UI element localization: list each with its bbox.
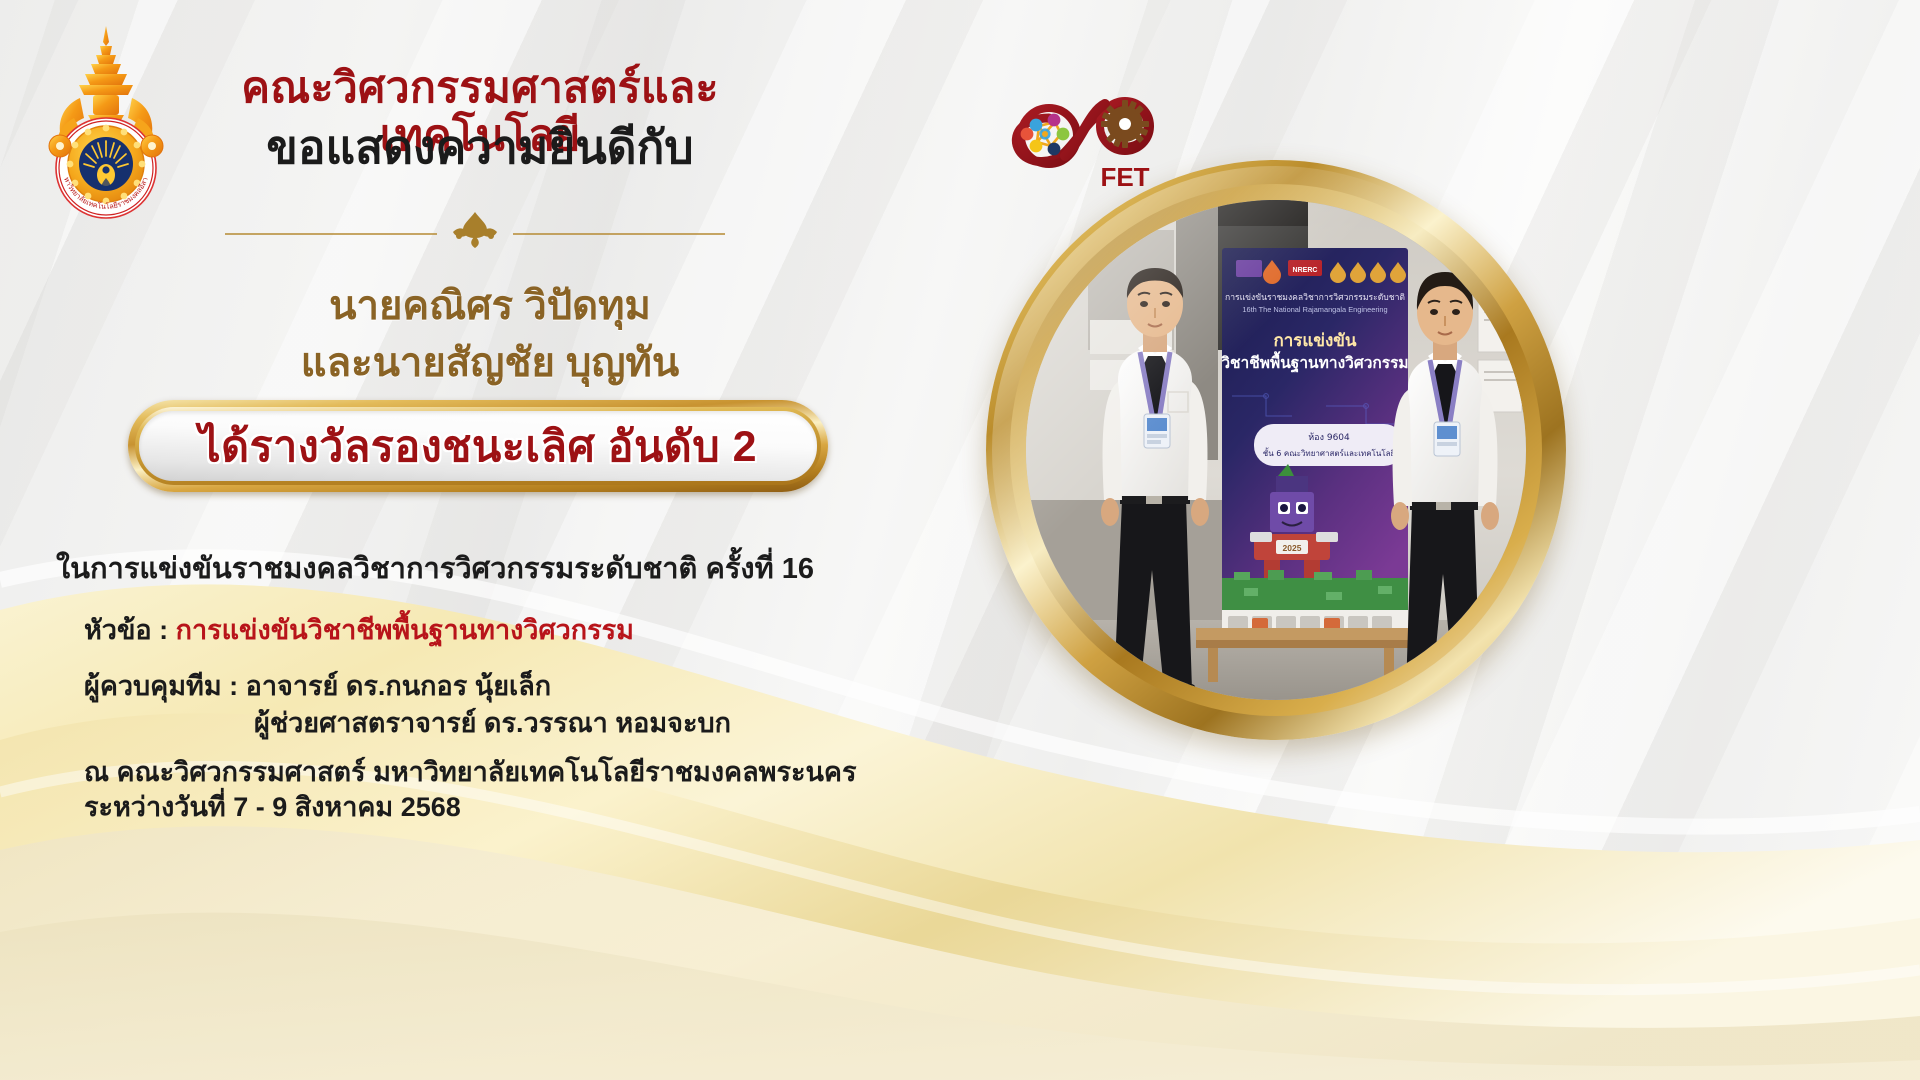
photo-clip: NRERC การแข่งขันราชมงคลวิชาการวิศวกรรมระ… bbox=[1026, 200, 1526, 700]
event-photo: NRERC การแข่งขันราชมงคลวิชาการวิศวกรรมระ… bbox=[1026, 200, 1526, 700]
congratulations-title: ขอแสดงความยินดีกับ bbox=[150, 122, 810, 174]
recipient-name-2: และนายสัญชัย บุญทัน bbox=[120, 335, 860, 392]
fet-logo-label: FET bbox=[1100, 162, 1149, 192]
photo-frame: NRERC การแข่งขันราชมงคลวิชาการวิศวกรรมระ… bbox=[986, 160, 1566, 740]
award-badge: ได้รางวัลรองชนะเลิศ อันดับ 2 bbox=[128, 400, 828, 492]
award-badge-face: ได้รางวัลรองชนะเลิศ อันดับ 2 bbox=[139, 411, 817, 481]
fet-logo: FET bbox=[1005, 82, 1180, 194]
gear-icon bbox=[1101, 100, 1149, 148]
topic-label: หัวข้อ : bbox=[84, 615, 176, 645]
recipient-name-1: นายคณิศร วิปัดทุม bbox=[120, 278, 860, 335]
ornament-divider bbox=[215, 206, 735, 254]
advisor-name-1: อาจารย์ ดร.กนกอร นุ้ยเล็ก bbox=[246, 671, 552, 701]
recipient-names: นายคณิศร วิปัดทุม และนายสัญชัย บุญทัน bbox=[120, 278, 860, 392]
advisor-line-2: ผู้ช่วยศาสตราจารย์ ดร.วรรณา หอมจะบก bbox=[254, 701, 731, 744]
date-line: ระหว่างวันที่ 7 - 9 สิงหาคม 2568 bbox=[84, 785, 461, 828]
event-line: ในการแข่งขันราชมงคลวิชาการวิศวกรรมระดับช… bbox=[56, 545, 814, 591]
award-text: ได้รางวัลรองชนะเลิศ อันดับ 2 bbox=[199, 412, 757, 480]
topic-line: หัวข้อ : การแข่งขันวิชาชีพพื้นฐานทางวิศว… bbox=[84, 608, 634, 651]
banner-canvas: มหาวิทยาลัยเทคโนโลยีราชมงคลอีสาน คณะวิศว… bbox=[0, 0, 1920, 1080]
advisor-label: ผู้ควบคุมทีม : bbox=[84, 671, 246, 701]
topic-value: การแข่งขันวิชาชีพพื้นฐานทางวิศวกรรม bbox=[176, 615, 634, 645]
